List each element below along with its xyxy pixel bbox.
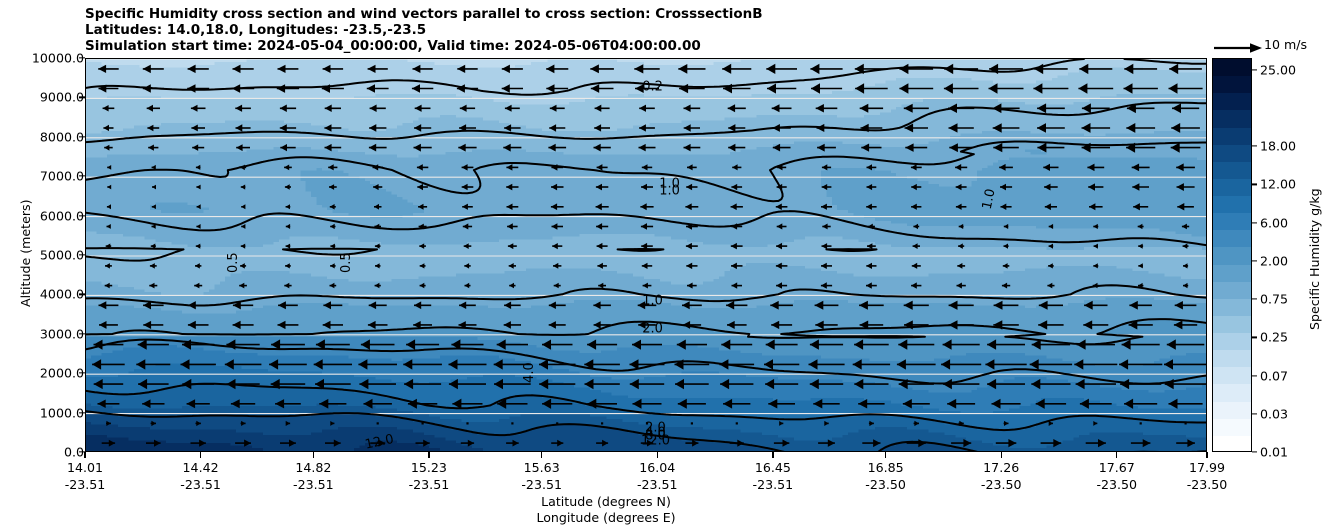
colorbar-tick-mark — [1252, 146, 1257, 147]
y-tick-mark — [79, 57, 85, 58]
contour-label: 2.0 — [642, 321, 663, 336]
y-tick-label: 1000.0 — [40, 405, 84, 420]
y-tick-label: 6000.0 — [40, 208, 84, 223]
y-tick-label: 2000.0 — [40, 366, 84, 381]
quiver-key: 10 m/s — [1212, 38, 1324, 58]
colorbar-tick-mark — [1252, 337, 1257, 338]
x-tick-mark — [428, 452, 429, 458]
x-tick-longitude: -23.51 — [409, 477, 450, 492]
colorbar-band — [1213, 110, 1251, 127]
colorbar-band — [1213, 282, 1251, 299]
wind-vector-arrow — [1185, 422, 1187, 424]
colorbar-band — [1213, 384, 1251, 401]
x-tick-longitude: -23.51 — [637, 477, 678, 492]
colorbar-band — [1213, 93, 1251, 110]
x-tick-longitude: -23.51 — [521, 477, 562, 492]
x-axis-label-latitude: Latitude (degrees N) — [0, 494, 1212, 509]
wind-vector-arrow — [377, 422, 379, 424]
y-tick-label: 7000.0 — [40, 169, 84, 184]
contour-label: 0.5 — [226, 252, 241, 273]
colorbar-tick-label: 0.03 — [1260, 406, 1288, 421]
x-tick-latitude: 17.26 — [983, 460, 1019, 475]
x-tick-latitude: 17.67 — [1099, 460, 1135, 475]
colorbar-band — [1213, 179, 1251, 196]
colorbar-tick-mark — [1252, 375, 1257, 376]
y-tick-label: 10000.0 — [32, 51, 84, 66]
y-tick-mark — [79, 254, 85, 255]
x-tick-mark — [657, 452, 658, 458]
y-tick-label: 3000.0 — [40, 326, 84, 341]
colorbar-tick-label: 0.25 — [1260, 330, 1288, 345]
colorbar[interactable] — [1212, 58, 1252, 452]
colorbar-tick-label: 12.00 — [1260, 177, 1296, 192]
contour-label: 0.5 — [339, 252, 354, 273]
colorbar-band — [1213, 145, 1251, 162]
colorbar-band — [1213, 436, 1251, 452]
colorbar-tick-mark — [1252, 413, 1257, 414]
wind-vector-arrow — [1140, 422, 1142, 424]
y-tick-mark — [79, 97, 85, 98]
y-tick-mark — [79, 176, 85, 177]
wind-vector-arrow — [556, 422, 558, 424]
y-tick-mark — [79, 412, 85, 413]
x-tick-longitude: -23.51 — [293, 477, 334, 492]
title-line-1: Specific Humidity cross section and wind… — [85, 6, 1185, 22]
right-arrow-icon — [1212, 38, 1264, 58]
x-tick-longitude: -23.51 — [65, 477, 106, 492]
colorbar-band — [1213, 333, 1251, 350]
x-tick-latitude: 15.63 — [524, 460, 560, 475]
contour-label: 4.0 — [522, 362, 537, 383]
contour-label: 12.0 — [641, 434, 670, 449]
colorbar-tick-mark — [1252, 260, 1257, 261]
x-tick-mark — [84, 452, 85, 458]
x-tick-latitude: 15.23 — [411, 460, 447, 475]
colorbar-tick-mark — [1252, 451, 1257, 452]
x-tick-longitude: -23.50 — [865, 477, 906, 492]
colorbar-tick-mark — [1252, 222, 1257, 223]
y-tick-label: 5000.0 — [40, 248, 84, 263]
wind-vector-arrow — [466, 422, 468, 424]
colorbar-band — [1213, 402, 1251, 419]
colorbar-band — [1213, 128, 1251, 145]
x-tick-mark — [541, 452, 542, 458]
title-line-2: Latitudes: 14.0,18.0, Longitudes: -23.5,… — [85, 22, 1185, 38]
x-tick-mark — [313, 452, 314, 458]
x-tick-latitude: 16.85 — [868, 460, 904, 475]
x-tick-mark — [1116, 452, 1117, 458]
figure-title: Specific Humidity cross section and wind… — [85, 6, 1185, 55]
y-tick-mark — [79, 215, 85, 216]
x-tick-mark — [1206, 452, 1207, 458]
colorbar-axis-label: Specific Humidity g/kg — [1307, 188, 1322, 330]
x-tick-longitude: -23.51 — [180, 477, 221, 492]
colorbar-tick-label: 18.00 — [1260, 139, 1296, 154]
figure-root: Specific Humidity cross section and wind… — [0, 0, 1326, 526]
colorbar-band — [1213, 350, 1251, 367]
colorbar-band — [1213, 76, 1251, 93]
colorbar-band — [1213, 59, 1251, 76]
colorbar-band — [1213, 367, 1251, 384]
wind-vector-arrow — [736, 422, 738, 424]
x-tick-longitude: -23.50 — [1096, 477, 1137, 492]
y-tick-label: 4000.0 — [40, 287, 84, 302]
x-tick-latitude: 14.01 — [67, 460, 103, 475]
x-tick-latitude: 14.42 — [183, 460, 219, 475]
y-tick-mark — [79, 333, 85, 334]
colorbar-band — [1213, 230, 1251, 247]
title-line-3: Simulation start time: 2024-05-04_00:00:… — [85, 38, 1185, 54]
y-tick-label: 8000.0 — [40, 129, 84, 144]
colorbar-tick-label: 0.07 — [1260, 368, 1288, 383]
plot-area: 0.21.01.01.00.50.51.02.04.02.04.08.012.0… — [85, 58, 1207, 452]
colorbar-tick-label: 2.00 — [1260, 253, 1288, 268]
y-tick-mark — [79, 294, 85, 295]
wind-vector-arrow — [691, 422, 693, 424]
x-tick-latitude: 16.45 — [755, 460, 791, 475]
y-tick-mark — [79, 373, 85, 374]
colorbar-band — [1213, 196, 1251, 213]
colorbar-tick-mark — [1252, 184, 1257, 185]
contour-label: 0.2 — [642, 79, 663, 94]
cross-section-plot: 0.21.01.01.00.50.51.02.04.02.04.08.012.0… — [86, 59, 1207, 452]
colorbar-band — [1213, 247, 1251, 264]
colorbar-band — [1213, 265, 1251, 282]
colorbar-tick-label: 0.75 — [1260, 292, 1288, 307]
colorbar-band — [1213, 213, 1251, 230]
wind-vector-arrow — [601, 422, 603, 424]
x-tick-latitude: 17.99 — [1189, 460, 1225, 475]
colorbar-tick-label: 6.00 — [1260, 215, 1288, 230]
contour-label: 1.0 — [642, 294, 663, 309]
colorbar-tick-mark — [1252, 69, 1257, 70]
x-tick-latitude: 14.82 — [295, 460, 331, 475]
y-tick-label: 9000.0 — [40, 90, 84, 105]
contour-label: 1.0 — [659, 183, 680, 198]
x-tick-mark — [200, 452, 201, 458]
wind-vector-arrow — [422, 422, 424, 424]
colorbar-band — [1213, 162, 1251, 179]
x-tick-longitude: -23.51 — [753, 477, 794, 492]
x-tick-longitude: -23.50 — [981, 477, 1022, 492]
colorbar-tick-label: 0.01 — [1260, 445, 1288, 460]
colorbar-tick-label: 25.00 — [1260, 62, 1296, 77]
x-axis-label-longitude: Longitude (degrees E) — [0, 510, 1212, 525]
colorbar-band — [1213, 419, 1251, 436]
y-tick-mark — [79, 136, 85, 137]
x-tick-latitude: 16.04 — [639, 460, 675, 475]
y-axis-label: Altitude (meters) — [18, 200, 33, 307]
colorbar-tick-mark — [1252, 299, 1257, 300]
x-tick-mark — [772, 452, 773, 458]
x-tick-mark — [885, 452, 886, 458]
quiver-key-label: 10 m/s — [1264, 37, 1307, 52]
x-tick-longitude: -23.50 — [1187, 477, 1228, 492]
colorbar-band — [1213, 299, 1251, 316]
wind-vector-arrow — [511, 422, 513, 424]
colorbar-band — [1213, 316, 1251, 333]
x-tick-mark — [1001, 452, 1002, 458]
